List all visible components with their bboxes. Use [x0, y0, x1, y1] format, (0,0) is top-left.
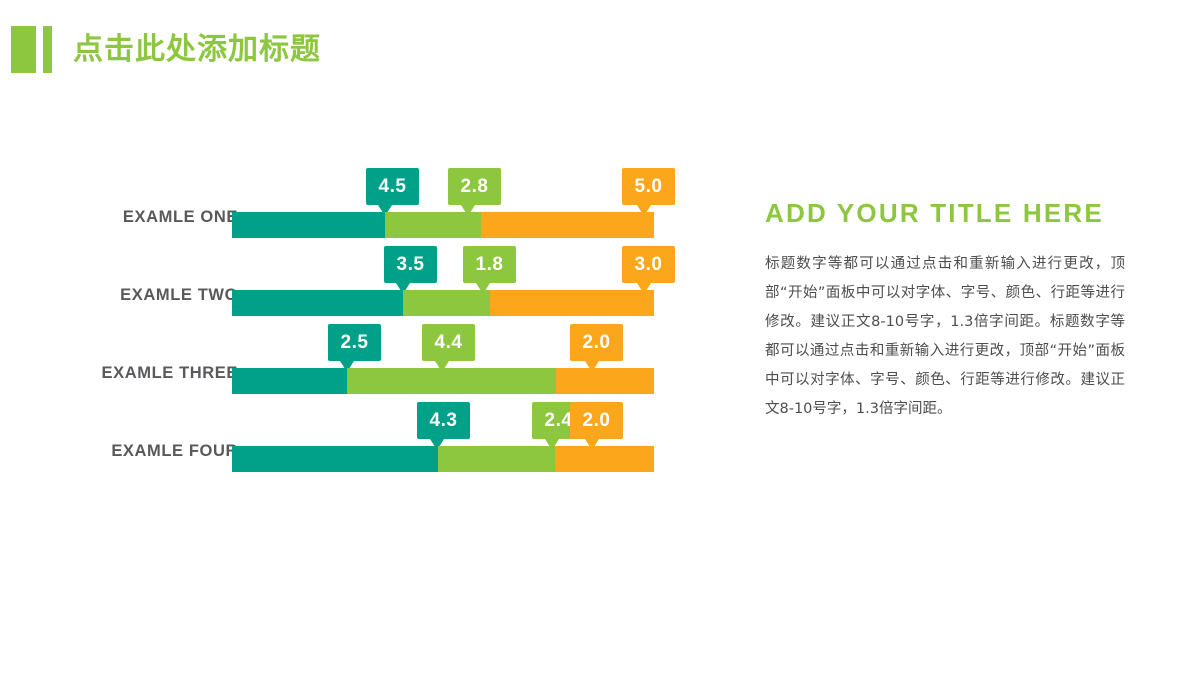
value-label[interactable]: 3.0 [622, 246, 675, 283]
bar-segment-green[interactable] [347, 368, 556, 394]
value-label[interactable]: 4.5 [366, 168, 419, 205]
bar-segment-orange[interactable] [555, 446, 654, 472]
panel-title[interactable]: ADD YOUR TITLE HERE [765, 196, 1125, 230]
bar-segment-teal[interactable] [232, 368, 347, 394]
bar-segment-teal[interactable] [232, 446, 438, 472]
value-label[interactable]: 1.8 [463, 246, 516, 283]
value-label[interactable]: 2.5 [328, 324, 381, 361]
text-panel: ADD YOUR TITLE HERE 标题数字等都可以通过点击和重新输入进行更… [765, 196, 1125, 424]
chart-row: EXAMLE TWO3.51.83.0 [0, 252, 720, 332]
row-label[interactable]: EXAMLE THREE [0, 364, 238, 383]
callout-pointer-icon [585, 361, 599, 372]
bar-segment-orange[interactable] [481, 212, 654, 238]
value-label[interactable]: 4.3 [417, 402, 470, 439]
chart-row: EXAMLE FOUR4.32.42.0 [0, 408, 720, 488]
bar-segment-green[interactable] [438, 446, 555, 472]
chart-row: EXAMLE ONE4.52.85.0 [0, 174, 720, 254]
bar-segment-teal[interactable] [232, 212, 385, 238]
value-label[interactable]: 2.8 [448, 168, 501, 205]
chart-row: EXAMLE THREE2.54.42.0 [0, 330, 720, 410]
bar-segment-orange[interactable] [490, 290, 654, 316]
bar-segment-orange[interactable] [556, 368, 654, 394]
value-label[interactable]: 5.0 [622, 168, 675, 205]
row-label[interactable]: EXAMLE TWO [0, 286, 238, 305]
callout-pointer-icon [435, 361, 449, 372]
value-label[interactable]: 3.5 [384, 246, 437, 283]
value-label[interactable]: 2.0 [570, 324, 623, 361]
callout-pointer-icon [461, 205, 475, 216]
callout-pointer-icon [637, 283, 651, 294]
row-label[interactable]: EXAMLE ONE [0, 208, 238, 227]
row-label[interactable]: EXAMLE FOUR [0, 442, 238, 461]
stacked-bar-chart: EXAMLE ONE4.52.85.0EXAMLE TWO3.51.83.0EX… [0, 0, 720, 675]
bar-segment-teal[interactable] [232, 290, 403, 316]
panel-body-text[interactable]: 标题数字等都可以通过点击和重新输入进行更改，顶部“开始”面板中可以对字体、字号、… [765, 250, 1125, 424]
value-label[interactable]: 4.4 [422, 324, 475, 361]
value-label[interactable]: 2.0 [570, 402, 623, 439]
callout-pointer-icon [476, 283, 490, 294]
callout-pointer-icon [585, 439, 599, 450]
callout-pointer-icon [637, 205, 651, 216]
